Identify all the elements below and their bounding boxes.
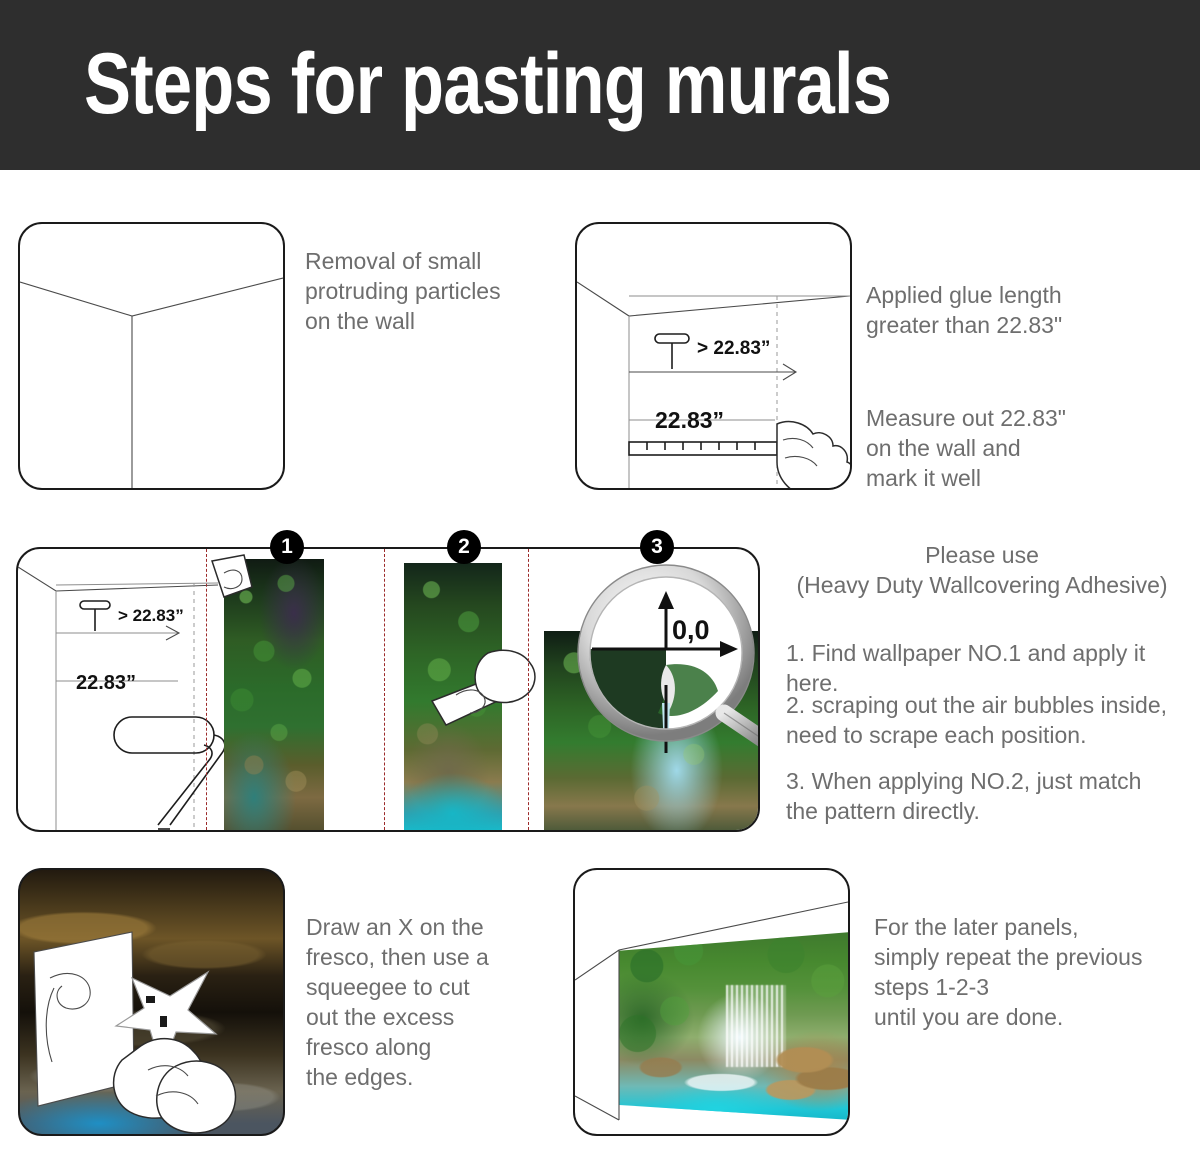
page-title: Steps for pasting murals [84, 36, 891, 132]
room-perspective-lines [575, 870, 848, 1134]
wall-corner-illustration [20, 224, 283, 488]
dim-upper-text: > 22.83” [697, 338, 770, 359]
small-roller-icon [655, 334, 689, 369]
middle-strip-panel: > 22.83” 22.83” [16, 547, 760, 832]
paint-roller-icon [114, 717, 225, 829]
hand-applying-icon-1 [194, 553, 264, 673]
magnifier-origin-icon: 0,0 [574, 553, 760, 768]
middle-instruction-2: 2. scraping out the air bubbles inside, … [786, 690, 1186, 750]
step-3-caption: Draw an X on the fresco, then use a sque… [306, 912, 566, 1092]
hand-holding-squeegee-icon [114, 1039, 236, 1133]
middle-dim-lower: 22.83” [76, 672, 136, 694]
dim-lower-text: 22.83” [655, 407, 724, 433]
step-2-caption-glue: Applied glue length greater than 22.83" [866, 280, 1166, 340]
step-badge-2: 2 [447, 530, 481, 564]
middle-instruction-3: 3. When applying NO.2, just match the pa… [786, 766, 1186, 826]
step-4-caption: For the later panels, simply repeat the … [874, 912, 1200, 1032]
step-2-caption-measure: Measure out 22.83" on the wall and mark … [866, 403, 1166, 493]
middle-dim-upper: > 22.83” [118, 606, 184, 625]
middle-instruction-1: 1. Find wallpaper NO.1 and apply it here… [786, 638, 1186, 698]
tape-measure-icon [629, 442, 777, 455]
glue-measure-illustration: > 22.83” 22.83” [577, 224, 850, 488]
x-cut-illustration [20, 870, 283, 1134]
step-4-panel [573, 868, 850, 1136]
seam-line-1 [206, 549, 207, 830]
hand-squeegee-icon-2 [430, 645, 550, 755]
step-2-panel: > 22.83” 22.83” [575, 222, 852, 490]
small-roller-icon-middle [80, 601, 110, 631]
origin-label: 0,0 [672, 615, 710, 645]
step-badge-1: 1 [270, 530, 304, 564]
header-bar: Steps for pasting murals [0, 0, 1200, 170]
seam-line-3 [528, 549, 529, 830]
step-1-caption: Removal of small protruding particles on… [305, 246, 575, 336]
seam-line-2 [384, 549, 385, 830]
hand-holding-tape-icon [777, 422, 850, 488]
step-3-panel [18, 868, 285, 1136]
step-1-panel [18, 222, 285, 490]
adhesive-note: Please use (Heavy Duty Wallcovering Adhe… [772, 540, 1192, 600]
